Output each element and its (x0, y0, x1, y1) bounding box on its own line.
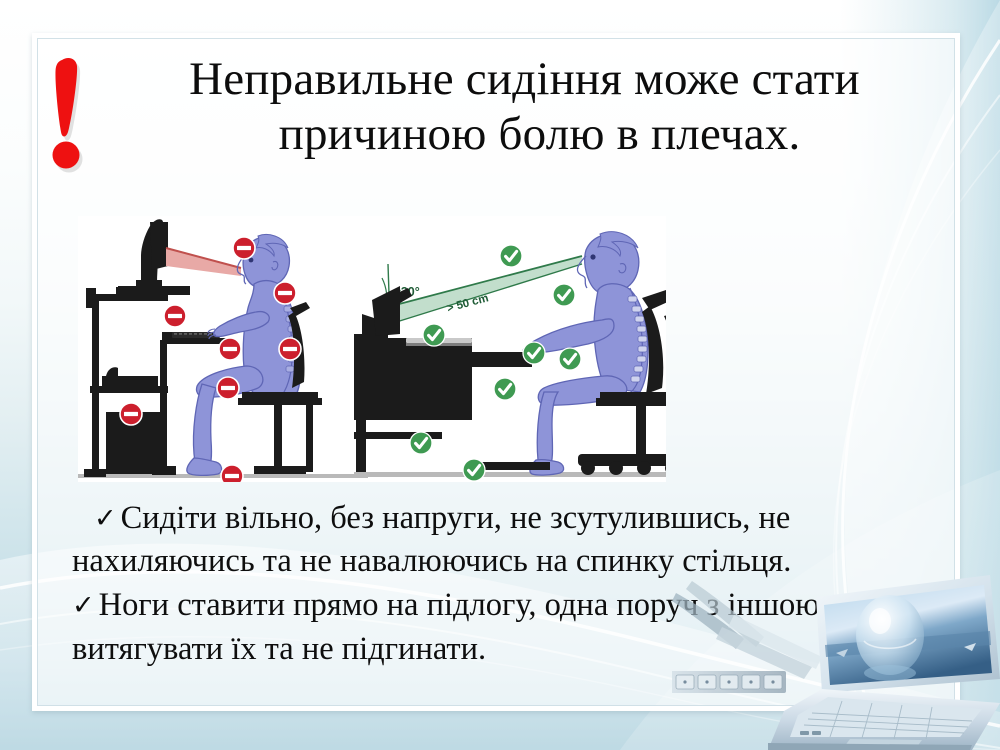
check-badge-icon (559, 348, 581, 370)
check-badge-icon (463, 459, 485, 481)
prohibition-sign-icon (274, 282, 296, 304)
list-item: ✓Сидіти вільно, без напруги, не зсутулив… (72, 497, 950, 583)
check-badge-icon (523, 342, 545, 364)
check-badge-icon (500, 245, 522, 267)
exclamation-mark-icon (52, 58, 96, 176)
prohibition-sign-icon (164, 305, 186, 327)
bullet-list: ✓Сидіти вільно, без напруги, не зсутулив… (72, 497, 950, 671)
list-item: ✓Ноги ставити прямо на підлогу, одна пор… (72, 584, 950, 670)
prohibition-sign-icon (221, 465, 243, 482)
prohibition-sign-icon (233, 237, 255, 259)
title-line-1: Неправильне сидіння може стати (102, 52, 947, 107)
check-mark-icon: ✓ (94, 503, 121, 534)
check-badge-icon (423, 324, 445, 346)
prohibition-sign-icon (120, 403, 142, 425)
check-badge-icon (553, 284, 575, 306)
check-badge-icon (410, 432, 432, 454)
list-item-text: Ноги ставити прямо на підлогу, одна пору… (72, 587, 868, 666)
prohibition-sign-icon (279, 338, 301, 360)
check-mark-icon: ✓ (72, 590, 99, 621)
check-badge-icon (494, 378, 516, 400)
prohibition-sign-icon (219, 338, 241, 360)
page-title: Неправильне сидіння може стати причиною … (40, 52, 960, 162)
list-item-text: Сидіти вільно, без напруги, не зсутуливш… (72, 500, 791, 579)
posture-illustration-svg: ≈30° > 50 cm (78, 216, 666, 482)
posture-illustration: ≈30° > 50 cm (78, 216, 666, 482)
prohibition-sign-icon (217, 377, 239, 399)
title-line-2: причиною болю в плечах. (132, 107, 947, 162)
